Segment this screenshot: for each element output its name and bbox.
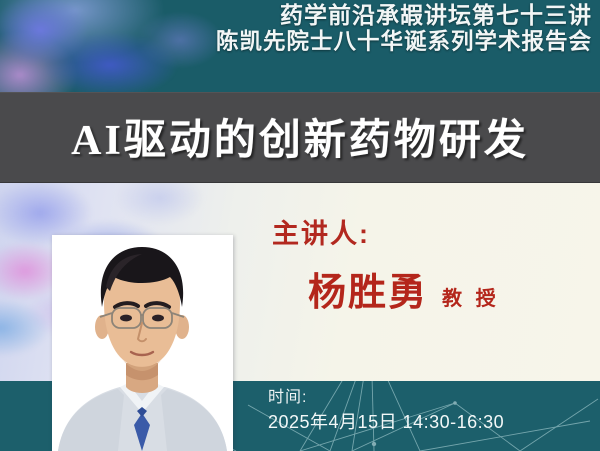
header-line-1: 药学前沿承嘏讲坛第七十三讲 — [162, 2, 592, 29]
lecture-poster: 药学前沿承嘏讲坛第七十三讲 陈凯先院士八十华诞系列学术报告会 AI驱动的创新药物… — [0, 0, 600, 451]
header-band: 药学前沿承嘏讲坛第七十三讲 陈凯先院士八十华诞系列学术报告会 — [0, 0, 600, 93]
header-text-block: 药学前沿承嘏讲坛第七十三讲 陈凯先院士八十华诞系列学术报告会 — [162, 2, 592, 55]
portrait-illustration — [52, 235, 233, 451]
title-bar: AI驱动的创新药物研发 — [0, 92, 600, 183]
header-line-2: 陈凯先院士八十华诞系列学术报告会 — [162, 29, 592, 55]
speaker-name: 杨胜勇 — [308, 274, 428, 312]
page-title: AI驱动的创新药物研发 — [71, 106, 529, 167]
time-block: 时间: 2025年4月15日 14:30-16:30 — [268, 389, 504, 433]
speaker-block: 主讲人: 杨胜勇 教 授 — [272, 221, 500, 312]
time-label: 时间: — [268, 389, 504, 408]
time-value: 2025年4月15日 14:30-16:30 — [268, 412, 504, 433]
speaker-rank: 教 授 — [442, 289, 500, 309]
speaker-label: 主讲人: — [272, 221, 500, 248]
speaker-name-row: 杨胜勇 教 授 — [308, 274, 500, 312]
speaker-portrait-photo — [52, 235, 233, 451]
